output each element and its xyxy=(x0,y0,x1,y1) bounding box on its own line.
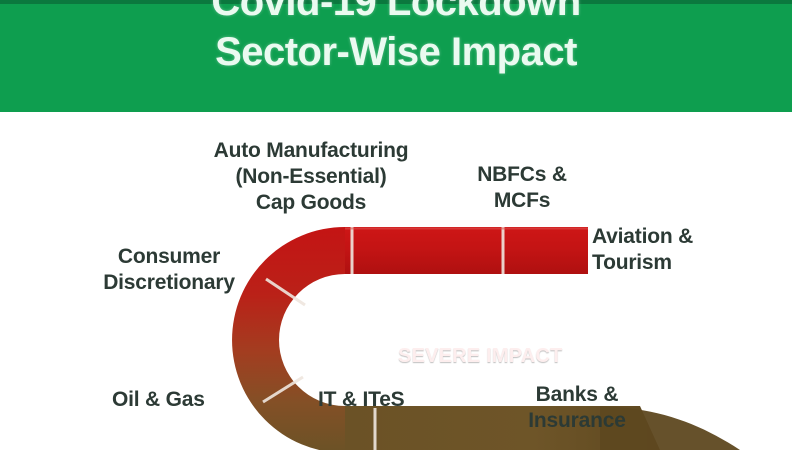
label-oil-and-gas: Oil & Gas xyxy=(112,387,252,413)
header-banner: Covid-19 Lockdown Sector-Wise Impact xyxy=(0,0,792,112)
screenshot-root: Covid-19 Lockdown Sector-Wise Impact xyxy=(0,0,800,450)
banner-title-line1: Covid-19 Lockdown xyxy=(0,0,792,26)
banner-text-block: Covid-19 Lockdown Sector-Wise Impact xyxy=(0,0,792,78)
label-nbfcs-mcfs: NBFCs & MCFs xyxy=(442,162,602,214)
label-auto-manufacturing: Auto Manufacturing (Non-Essential) Cap G… xyxy=(186,138,436,216)
banner-title-line2: Sector-Wise Impact xyxy=(0,26,792,78)
label-aviation-tourism: Aviation & Tourism xyxy=(592,224,792,276)
label-banks-insurance: Banks & Insurance xyxy=(492,382,662,434)
severe-impact-label: SEVERE IMPACT xyxy=(398,345,562,368)
band-arm-top xyxy=(345,227,588,274)
label-consumer-discretionary: Consumer Discretionary xyxy=(86,244,252,296)
label-it-and-ites: IT & ITeS xyxy=(318,387,458,413)
